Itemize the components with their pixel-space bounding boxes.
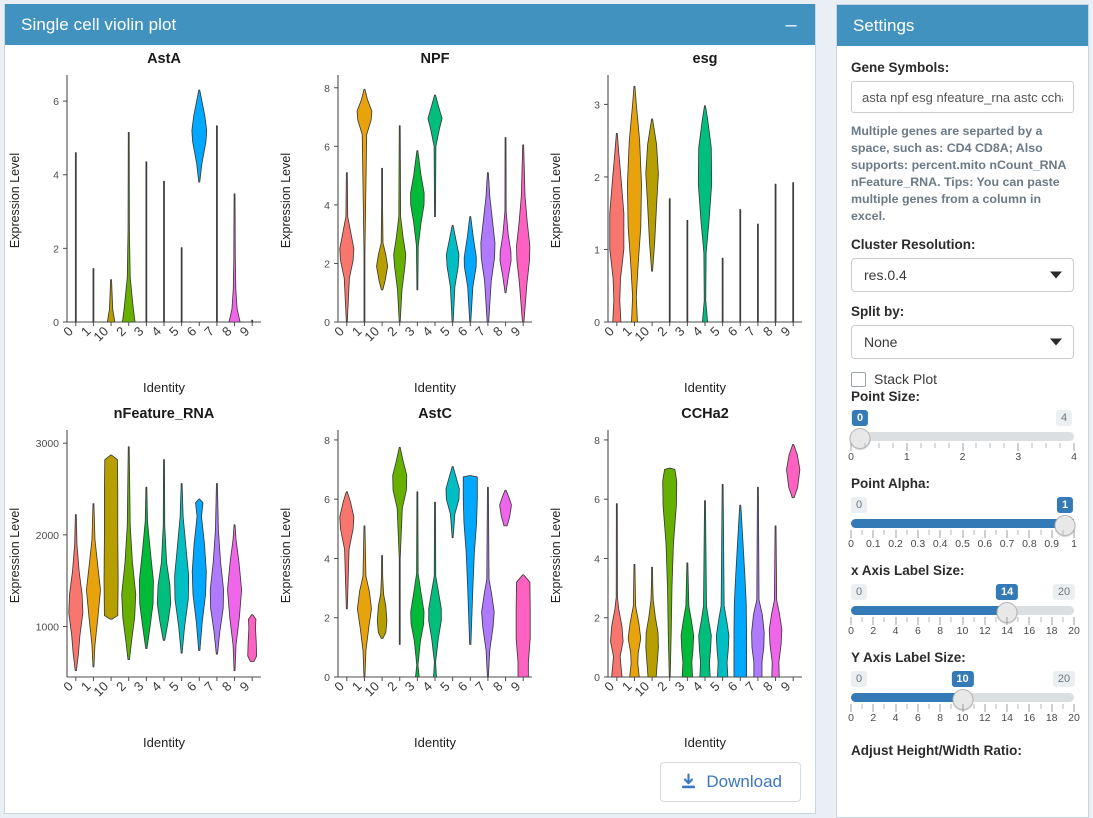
x-tick-label: 8 [760, 324, 776, 340]
x-tick-label: 5 [166, 679, 182, 695]
violin-shape [210, 484, 223, 655]
violin-plot-panel-header: Single cell violin plot – [5, 4, 815, 45]
violin-shape [758, 224, 759, 322]
gene-symbols-input[interactable] [851, 81, 1074, 113]
violin-shape [610, 133, 624, 322]
download-button-label: Download [706, 772, 782, 792]
x-tick-label: 0 [60, 679, 76, 695]
tick-label: 12 [979, 712, 991, 724]
y-tick-label: 0 [53, 317, 59, 329]
tick-label: 8 [937, 625, 943, 637]
y-axis-label-size-label: Y Axis Label Size: [851, 650, 1074, 665]
y-tick-label: 0 [324, 317, 330, 329]
point-alpha-slider[interactable]: 0100.10.20.30.40.50.60.70.80.91 [851, 497, 1074, 559]
x-tick-label: 0 [60, 324, 76, 340]
x-axis-label: Identity [684, 735, 726, 750]
violin-shape [104, 455, 118, 619]
plot-body: AstA0246Expression Level011023456789Iden… [5, 45, 815, 814]
y-tick-label: 2 [53, 243, 59, 255]
x-tick-label: 8 [219, 324, 235, 340]
slider-group: Point Size:04001234Point Alpha:0100.10.2… [851, 389, 1074, 733]
tick-label: 10 [957, 712, 969, 724]
x-tick-label: 9 [778, 324, 794, 340]
x-tick-label: 2 [384, 679, 400, 695]
x-axis-label: Identity [143, 735, 185, 750]
y-tick-label: 4 [594, 553, 600, 565]
tick-label: 0.4 [933, 538, 948, 550]
violin-panel-esg: esg0123Expression Level011023456789Ident… [546, 45, 817, 400]
y-tick-label: 4 [324, 200, 330, 212]
y-tick-label: 6 [324, 494, 330, 506]
tick-label: 0 [848, 625, 854, 637]
tick-label: 12 [979, 625, 991, 637]
x-tick-label: 4 [690, 324, 706, 340]
y-axis-label-size-min-label: 0 [851, 671, 867, 687]
x-axis-label-size-label: x Axis Label Size: [851, 563, 1074, 578]
split-by-select-wrap: None [851, 325, 1074, 359]
violin-shape [699, 106, 712, 322]
x-tick-label: 4 [148, 324, 164, 340]
x-tick-label: 10 [632, 324, 653, 345]
x-tick-label: 7 [743, 679, 759, 695]
violin-shape [86, 504, 100, 667]
violin-panel-nfeature_rna: nFeature_RNA100020003000Expression Level… [5, 400, 276, 755]
x-tick-label: 9 [507, 324, 523, 340]
tick-label: 20 [1068, 712, 1080, 724]
y-tick-label: 2000 [36, 530, 60, 542]
violin-shape [252, 320, 253, 322]
violin-shape [740, 210, 741, 322]
tick-label: 2 [870, 625, 876, 637]
y-axis-label: Expression Level [279, 508, 293, 603]
y-tick-label: 3 [594, 99, 600, 111]
violin-panel-astc: AstC02468Expression Level011023456789Ide… [276, 400, 547, 755]
violin-shape [93, 269, 94, 322]
y-axis-label-size-value-label: 10 [951, 671, 973, 687]
violin-shape [681, 563, 694, 677]
x-tick-label: 6 [454, 324, 470, 340]
x-tick-label: 5 [166, 324, 182, 340]
y-tick-label: 8 [594, 435, 600, 447]
panel-title: AstC [418, 406, 452, 422]
violin-shape [446, 225, 459, 322]
violin-shape [481, 487, 494, 677]
x-axis-label-size-max-label: 20 [1053, 584, 1075, 600]
violin-shape [357, 89, 372, 322]
point-size-slider[interactable]: 04001234 [851, 410, 1074, 472]
violin-plot-panel: Single cell violin plot – AstA0246Expres… [4, 4, 816, 814]
x-tick-label: 0 [331, 324, 347, 340]
tick-label: 18 [1046, 625, 1058, 637]
violin-shape [663, 468, 677, 677]
tick-label: 0 [848, 712, 854, 724]
violin-shape [157, 460, 170, 641]
x-tick-label: 5 [437, 679, 453, 695]
violin-shape [775, 184, 776, 322]
tick-label: 0 [848, 538, 854, 550]
cluster-resolution-label: Cluster Resolution: [851, 237, 1074, 252]
x-tick-label: 6 [184, 679, 200, 695]
violin-shape [428, 502, 441, 677]
violin-shape [428, 95, 442, 217]
x-tick-label: 7 [201, 679, 217, 695]
y-tick-label: 4 [324, 553, 330, 565]
x-tick-label: 7 [201, 324, 217, 340]
x-axis-label: Identity [143, 380, 185, 395]
y-axis-label: Expression Level [549, 153, 563, 248]
tick-label: 16 [1024, 712, 1036, 724]
panel-title: AstA [147, 51, 181, 67]
x-tick-label: 9 [237, 324, 253, 340]
violin-shape [670, 199, 671, 322]
tick-label: 14 [1001, 712, 1013, 724]
violin-shape [75, 153, 76, 322]
point-size-value-label: 0 [852, 410, 868, 426]
minimize-dash-icon[interactable]: – [781, 20, 801, 30]
x-tick-label: 3 [401, 679, 417, 695]
point-alpha-fill [851, 519, 1074, 528]
x-tick-label: 7 [743, 324, 759, 340]
violin-shape [717, 484, 730, 677]
violin-shape [393, 126, 405, 322]
tick-label: 0.3 [911, 538, 926, 550]
x-tick-label: 9 [778, 679, 794, 695]
panel-title: esg [693, 51, 718, 67]
x-tick-label: 10 [632, 679, 653, 700]
violin-shape [146, 162, 147, 322]
x-axis-label-size-min-label: 0 [851, 584, 867, 600]
violin-shape [770, 526, 783, 677]
violin-shape [464, 217, 476, 322]
violin-shape [122, 132, 135, 322]
x-tick-label: 8 [490, 324, 506, 340]
x-tick-label: 4 [690, 679, 706, 695]
panel-title: NPF [420, 51, 449, 67]
violin-panel-asta: AstA0246Expression Level011023456789Iden… [5, 45, 276, 400]
y-tick-label: 0 [324, 672, 330, 684]
violin-shape [164, 181, 165, 322]
x-axis-label: Identity [414, 380, 456, 395]
x-tick-label: 2 [113, 324, 129, 340]
y-tick-label: 1000 [36, 622, 60, 634]
stack-plot-checkbox[interactable] [851, 372, 866, 387]
tick-label: 14 [1001, 625, 1013, 637]
violin-shape [192, 90, 207, 182]
violin-shape [122, 447, 136, 660]
y-axis-label: Expression Level [8, 508, 22, 603]
violin-shape [463, 475, 477, 644]
point-alpha-ticks [851, 530, 1074, 538]
gene-symbols-label: Gene Symbols: [851, 60, 1074, 75]
violin-shape [107, 280, 114, 322]
x-tick-label: 10 [361, 324, 382, 345]
x-tick-label: 7 [472, 679, 488, 695]
x-tick-label: 2 [384, 324, 400, 340]
violin-shape [646, 119, 659, 271]
x-tick-label: 1 [349, 679, 365, 695]
split-by-value: None [864, 334, 897, 350]
x-tick-label: 2 [113, 679, 129, 695]
x-tick-label: 1 [349, 324, 365, 340]
violin-shape [410, 492, 423, 677]
violin-shape [410, 151, 424, 290]
x-tick-label: 6 [454, 679, 470, 695]
violin-shape [377, 556, 387, 639]
height-width-ratio-label: Adjust Height/Width Ratio: [851, 743, 1074, 758]
x-tick-label: 10 [90, 324, 111, 345]
x-tick-label: 4 [148, 679, 164, 695]
stack-plot-checkbox-row[interactable]: Stack Plot [851, 371, 1074, 387]
violin-shape [646, 567, 659, 677]
y-tick-label: 2 [324, 613, 330, 625]
x-tick-label: 0 [331, 679, 347, 695]
tick-label: 2 [870, 712, 876, 724]
panel-title: nFeature_RNA [114, 406, 215, 422]
x-axis-label: Identity [684, 380, 726, 395]
stack-plot-label: Stack Plot [874, 371, 937, 387]
violin-shape [181, 248, 182, 322]
download-button[interactable]: Download [660, 762, 801, 802]
point-size-track[interactable] [851, 432, 1074, 441]
x-tick-label: 5 [707, 679, 723, 695]
y-tick-label: 8 [324, 435, 330, 447]
x-tick-label: 2 [654, 679, 670, 695]
gene-symbols-help-text: Multiple genes are separted by a space, … [851, 123, 1074, 225]
x-axis-label-size-tick-labels: 02468101214161820 [851, 625, 1074, 639]
x-tick-label: 4 [419, 324, 435, 340]
y-axis-label-size-tick-labels: 02468101214161820 [851, 712, 1074, 726]
violin-shape [376, 168, 387, 289]
download-icon [679, 773, 698, 792]
y-tick-label: 2 [594, 172, 600, 184]
violin-shape [69, 515, 83, 671]
split-by-label: Split by: [851, 304, 1074, 319]
violin-shape [446, 467, 459, 538]
violin-shape [628, 564, 641, 677]
y-axis-label: Expression Level [279, 153, 293, 248]
y-tick-label: 0 [594, 317, 600, 329]
violin-shape [228, 525, 242, 671]
y-tick-label: 2 [594, 613, 600, 625]
violin-shape [628, 86, 642, 322]
x-axis-label-size-ticks [851, 617, 1074, 625]
violin-panel-npf: NPF02468Expression Level011023456789Iden… [276, 45, 547, 400]
x-axis-label: Identity [414, 735, 456, 750]
tick-label: 8 [937, 712, 943, 724]
violin-shape [248, 615, 257, 662]
violin-shape [392, 447, 406, 644]
x-tick-label: 3 [672, 679, 688, 695]
tick-label: 1 [1071, 538, 1077, 550]
tick-label: 0.1 [866, 538, 881, 550]
violin-shape [139, 487, 153, 648]
x-tick-label: 1 [619, 324, 635, 340]
tick-label: 18 [1046, 712, 1058, 724]
x-tick-label: 3 [672, 324, 688, 340]
violin-shape [192, 499, 206, 650]
violin-shape [175, 484, 189, 654]
violin-shape [793, 183, 794, 322]
x-tick-label: 1 [78, 324, 94, 340]
point-size-max-label: 4 [1056, 410, 1072, 426]
x-tick-label: 1 [78, 679, 94, 695]
x-tick-label: 10 [90, 679, 111, 700]
plot-grid: AstA0246Expression Level011023456789Iden… [5, 45, 817, 755]
violin-shape [357, 526, 371, 677]
y-tick-label: 6 [594, 494, 600, 506]
violin-panel-ccha2: CCHa202468Expression Level011023456789Id… [546, 400, 817, 755]
violin-shape [499, 490, 511, 526]
point-alpha-label: Point Alpha: [851, 476, 1074, 491]
tick-label: 4 [893, 712, 899, 724]
tick-label: 4 [1071, 451, 1077, 463]
tick-label: 10 [957, 625, 969, 637]
cluster-resolution-select-wrap: res.0.4 [851, 258, 1074, 292]
x-tick-label: 8 [219, 679, 235, 695]
x-tick-label: 6 [725, 679, 741, 695]
y-tick-label: 6 [53, 96, 59, 108]
y-axis-label: Expression Level [549, 508, 563, 603]
x-tick-label: 4 [419, 679, 435, 695]
settings-body: Gene Symbols: Multiple genes are separte… [837, 46, 1088, 758]
cluster-resolution-select[interactable]: res.0.4 [851, 258, 1074, 292]
tick-label: 0.9 [1044, 538, 1059, 550]
violin-shape [516, 575, 530, 677]
tick-label: 6 [915, 625, 921, 637]
tick-label: 6 [915, 712, 921, 724]
y-axis-label-size-max-label: 20 [1053, 671, 1075, 687]
violin-shape [723, 258, 724, 322]
tick-label: 20 [1068, 625, 1080, 637]
tick-label: 2 [960, 451, 966, 463]
y-axis-label: Expression Level [8, 153, 22, 248]
y-tick-label: 4 [53, 170, 59, 182]
tick-label: 4 [893, 625, 899, 637]
download-button-wrap: Download [660, 762, 801, 802]
x-tick-label: 3 [131, 679, 147, 695]
point-size-ticks [851, 443, 1074, 451]
violin-shape [216, 126, 217, 322]
y-axis-label-size-fill [851, 693, 963, 702]
violin-shape [752, 487, 765, 677]
page-title: Single cell violin plot [21, 15, 176, 35]
point-alpha-min-label: 0 [851, 497, 867, 513]
x-tick-label: 9 [507, 679, 523, 695]
app-root: Single cell violin plot – AstA0246Expres… [0, 0, 1093, 818]
x-tick-label: 1 [619, 679, 635, 695]
violin-shape [339, 492, 353, 609]
x-tick-label: 8 [760, 679, 776, 695]
panel-title: CCHa2 [682, 406, 730, 422]
tick-label: 1 [904, 451, 910, 463]
point-size-tick-labels: 01234 [851, 451, 1074, 465]
violin-shape [611, 504, 624, 677]
settings-panel-header: Settings [837, 5, 1088, 46]
x-axis-label-size-fill [851, 606, 1007, 615]
x-tick-label: 7 [472, 324, 488, 340]
tick-label: 16 [1024, 625, 1036, 637]
y-tick-label: 6 [324, 141, 330, 153]
violin-shape [787, 444, 800, 497]
tick-label: 0.7 [1000, 538, 1015, 550]
x-tick-label: 0 [602, 679, 618, 695]
tick-label: 0.8 [1022, 538, 1037, 550]
y-tick-label: 3000 [36, 438, 60, 450]
tick-label: 0 [848, 451, 854, 463]
x-tick-label: 8 [490, 679, 506, 695]
x-tick-label: 3 [131, 324, 147, 340]
x-tick-label: 3 [401, 324, 417, 340]
violin-shape [734, 505, 747, 677]
y-tick-label: 0 [594, 672, 600, 684]
y-axis-label-size-slider[interactable]: 0201002468101214161820 [851, 671, 1074, 733]
point-alpha-value-label: 1 [1057, 497, 1073, 513]
violin-shape [229, 194, 240, 322]
tick-label: 0.6 [977, 538, 992, 550]
x-tick-label: 5 [437, 324, 453, 340]
x-tick-label: 6 [725, 324, 741, 340]
cluster-resolution-value: res.0.4 [864, 267, 907, 283]
violin-shape [516, 145, 529, 322]
y-axis-label-size-ticks [851, 704, 1074, 712]
violin-shape [481, 173, 495, 322]
x-tick-label: 9 [237, 679, 253, 695]
x-tick-label: 5 [707, 324, 723, 340]
tick-label: 0.2 [888, 538, 903, 550]
split-by-select[interactable]: None [851, 325, 1074, 359]
violin-shape [500, 138, 511, 293]
tick-label: 0.5 [955, 538, 970, 550]
violin-shape [339, 173, 353, 322]
settings-title: Settings [853, 16, 914, 36]
tick-label: 3 [1015, 451, 1021, 463]
y-tick-label: 1 [594, 244, 600, 256]
x-axis-label-size-slider[interactable]: 0201402468101214161820 [851, 584, 1074, 646]
settings-panel: Settings Gene Symbols: Multiple genes ar… [836, 4, 1089, 818]
point-alpha-tick-labels: 00.10.20.30.40.50.60.70.80.91 [851, 538, 1074, 552]
x-tick-label: 0 [602, 324, 618, 340]
point-size-label: Point Size: [851, 389, 1074, 404]
violin-shape [687, 220, 688, 322]
x-tick-label: 10 [361, 679, 382, 700]
x-tick-label: 2 [654, 324, 670, 340]
y-tick-label: 8 [324, 83, 330, 95]
x-tick-label: 6 [184, 324, 200, 340]
violin-shape [699, 501, 712, 677]
x-axis-label-size-value-label: 14 [996, 584, 1018, 600]
y-tick-label: 2 [324, 258, 330, 270]
